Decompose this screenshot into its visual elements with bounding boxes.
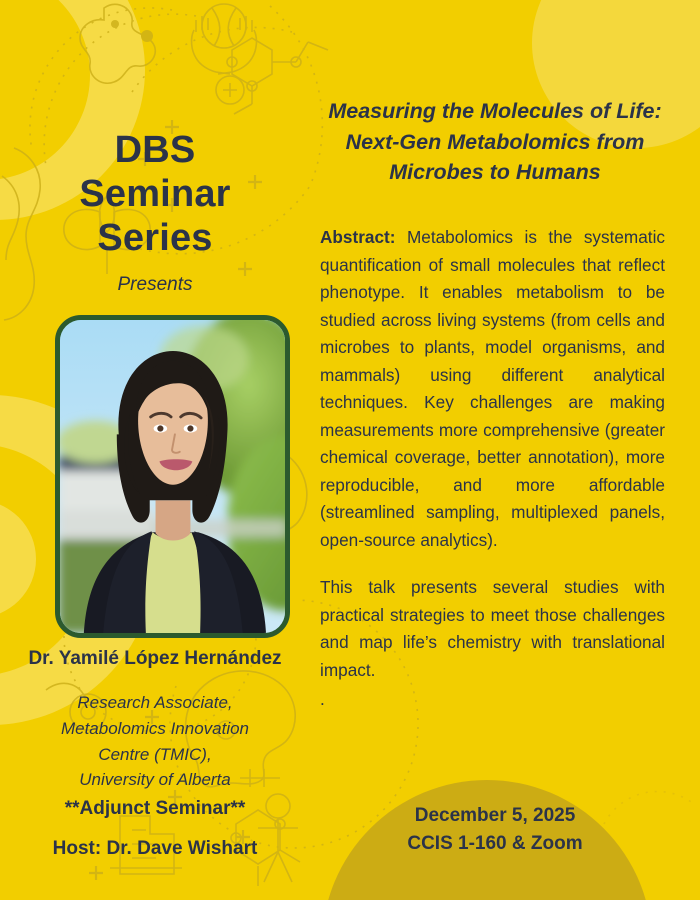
- series-title: DBS Seminar Series: [0, 128, 310, 260]
- poster-columns: DBS Seminar Series Presents: [0, 0, 700, 900]
- abstract-paragraph-2: This talk presents several studies with …: [320, 574, 665, 684]
- affiliation-line-4: University of Alberta: [0, 767, 310, 793]
- affiliation-line-2: Metabolomics Innovation: [0, 716, 310, 742]
- speaker-portrait-image: [60, 320, 285, 633]
- talk-title: Measuring the Molecules of Life: Next-Ge…: [320, 96, 670, 188]
- host-line: Host: Dr. Dave Wishart: [0, 838, 310, 860]
- abstract-paragraph-1: Abstract: Metabolomics is the systematic…: [320, 224, 665, 554]
- affiliation-line-1: Research Associate,: [0, 690, 310, 716]
- event-location: CCIS 1-160 & Zoom: [320, 830, 670, 858]
- speaker-photo: [55, 315, 290, 638]
- right-column: Measuring the Molecules of Life: Next-Ge…: [310, 0, 700, 900]
- speaker-affiliation: Research Associate, Metabolomics Innovat…: [0, 690, 310, 793]
- abstract-trailing-dot: .: [320, 686, 665, 714]
- series-title-line-2: Seminar: [0, 172, 310, 216]
- presents-label: Presents: [0, 274, 310, 296]
- left-column: DBS Seminar Series Presents: [0, 0, 310, 900]
- speaker-name: Dr. Yamilé López Hernández: [0, 648, 310, 670]
- adjunct-seminar-note: **Adjunct Seminar**: [0, 798, 310, 820]
- abstract-body-1: Metabolomics is the systematic quantific…: [320, 227, 665, 550]
- abstract-label: Abstract:: [320, 227, 395, 247]
- seminar-poster: DBS Seminar Series Presents: [0, 0, 700, 900]
- event-info: December 5, 2025 CCIS 1-160 & Zoom: [320, 802, 670, 857]
- series-title-line-1: DBS: [0, 128, 310, 172]
- series-title-line-3: Series: [0, 216, 310, 260]
- event-date: December 5, 2025: [320, 802, 670, 830]
- affiliation-line-3: Centre (TMIC),: [0, 742, 310, 768]
- abstract-block: Abstract: Metabolomics is the systematic…: [320, 224, 665, 714]
